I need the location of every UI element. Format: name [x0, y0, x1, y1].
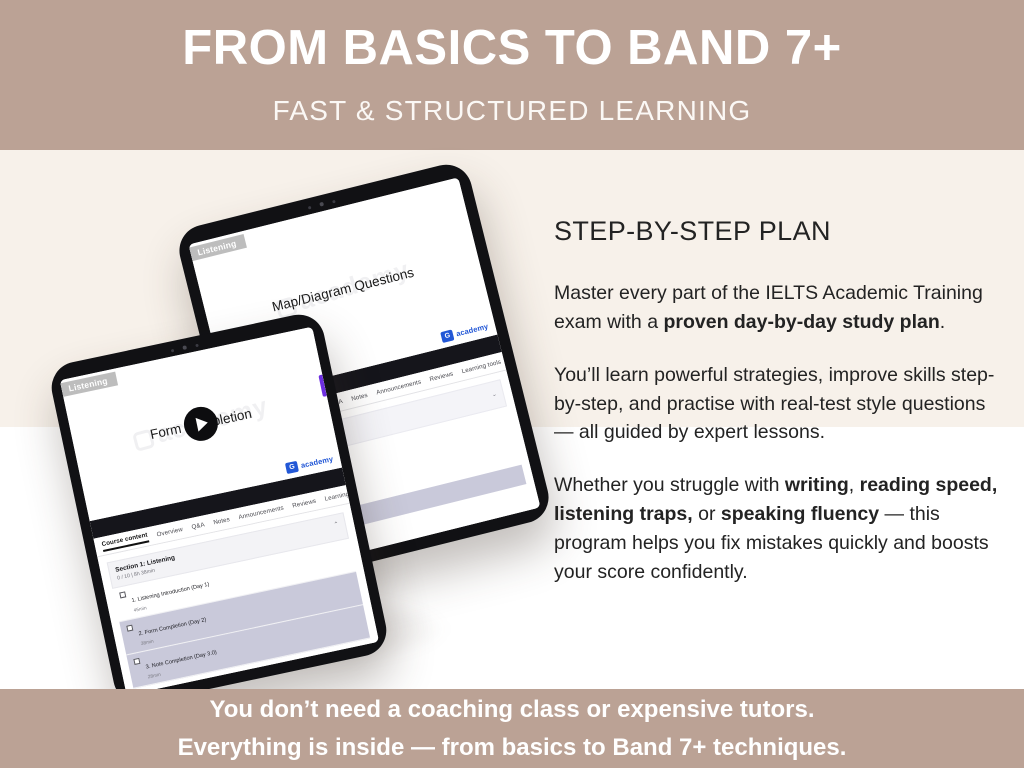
brand-mark-icon: G — [285, 461, 299, 474]
lesson-category-badge: Listening — [189, 234, 246, 261]
p3-mid1: , — [849, 474, 860, 496]
tab-qa[interactable]: Q&A — [191, 521, 206, 531]
paragraph-three: Whether you struggle with writing, readi… — [554, 471, 1002, 586]
chevron-down-icon: ⌄ — [491, 391, 498, 399]
video-title: Map/Diagram Questions — [271, 265, 416, 315]
p3-bold1: writing — [785, 474, 849, 496]
tab-notes[interactable]: Notes — [213, 516, 231, 526]
footer-banner: You don’t need a coaching class or expen… — [0, 689, 1024, 768]
p3-bold3: speaking fluency — [721, 503, 879, 525]
section-heading: STEP-BY-STEP PLAN — [554, 216, 1002, 247]
paragraph-two: You’ll learn powerful strategies, improv… — [554, 361, 1002, 448]
tablet-front-screen: Listening academy Form Completion G acad… — [60, 327, 379, 696]
page-title: FROM BASICS TO BAND 7+ — [182, 24, 841, 73]
p3-pre: Whether you struggle with — [554, 474, 785, 496]
footer-line-2: Everything is inside — from basics to Ba… — [178, 729, 847, 766]
right-text-column: STEP-BY-STEP PLAN Master every part of t… — [554, 216, 1002, 587]
progress-accent-bar — [318, 375, 326, 397]
tab-learning-tools[interactable]: Learning tools — [324, 487, 350, 502]
p3-mid2: or — [693, 503, 721, 525]
tab-overview[interactable]: Overview — [156, 526, 183, 538]
lesson-category-badge: Listening — [60, 372, 117, 397]
lesson-checkbox-icon[interactable] — [133, 658, 140, 665]
tab-notes[interactable]: Notes — [351, 392, 369, 403]
tablet-group: Listening academy Map/Diagram Questions … — [0, 150, 540, 710]
brand-mark-icon: G — [440, 329, 454, 343]
poster-canvas: FROM BASICS TO BAND 7+ FAST & STRUCTURED… — [0, 0, 1024, 768]
p1-bold: proven day-by-day study plan — [663, 311, 939, 333]
tab-reviews[interactable]: Reviews — [429, 371, 454, 384]
header-banner: FROM BASICS TO BAND 7+ FAST & STRUCTURED… — [0, 0, 1024, 150]
tab-reviews[interactable]: Reviews — [292, 498, 317, 510]
footer-line-1: You don’t need a coaching class or expen… — [209, 691, 814, 728]
lesson-checkbox-icon[interactable] — [126, 625, 133, 632]
lesson-checkbox-icon[interactable] — [119, 591, 126, 598]
brand-logo-text: academy — [300, 454, 334, 470]
p1-post: . — [940, 311, 945, 333]
page-subtitle: FAST & STRUCTURED LEARNING — [273, 95, 752, 127]
brand-logo-text: academy — [455, 322, 489, 339]
chevron-up-icon[interactable]: ⌃ — [333, 521, 339, 529]
play-icon[interactable] — [181, 404, 221, 444]
paragraph-one: Master every part of the IELTS Academic … — [554, 279, 1002, 337]
